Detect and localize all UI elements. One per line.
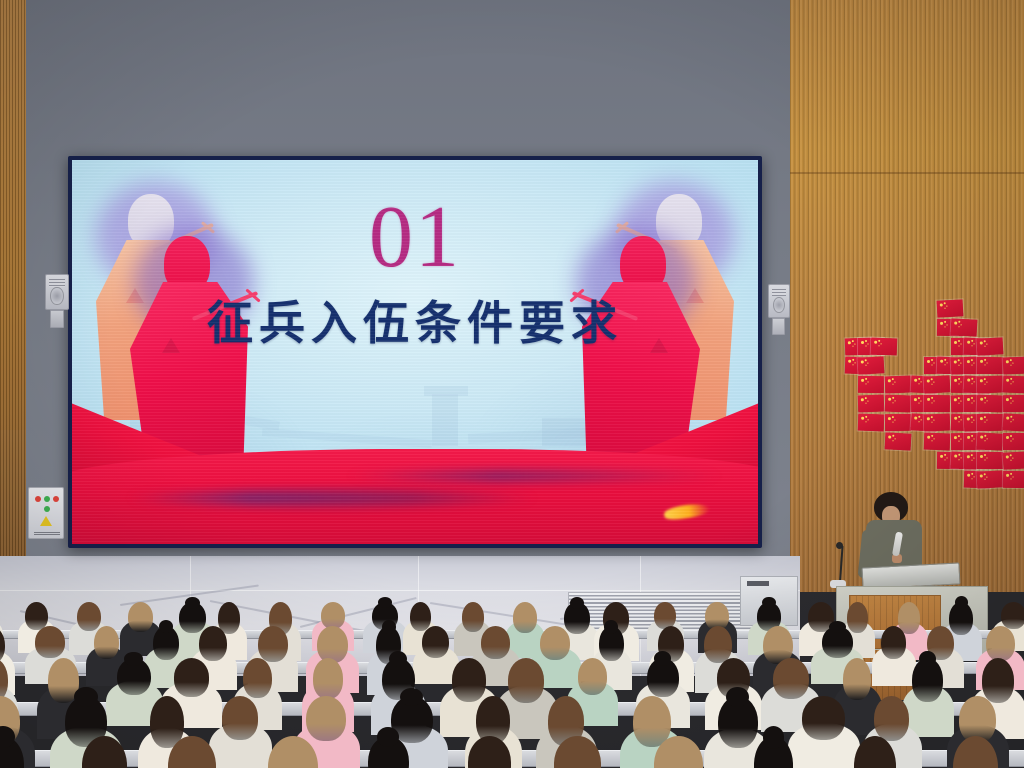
red-ribbon-graphic: [72, 394, 758, 544]
flag-tile: [884, 432, 911, 450]
flag-tile: [924, 375, 951, 393]
audience-head: [578, 658, 608, 695]
hair-bun: [74, 687, 97, 707]
audience-head: [82, 736, 127, 768]
slide-title: 征兵入伍条件要求: [72, 300, 758, 346]
ribbon-shadow-2: [346, 470, 723, 482]
flag-tile: [884, 376, 911, 394]
flag-tile: [1003, 357, 1024, 375]
audience-head: [174, 658, 210, 697]
audience-member: [654, 736, 703, 768]
flag-tile: [858, 414, 885, 432]
flag-tile: [950, 318, 977, 336]
flag-tile: [884, 395, 911, 413]
flag-tile: [1003, 376, 1024, 394]
audience-member: [802, 696, 845, 768]
audience-head: [481, 626, 510, 659]
hair-bun: [400, 688, 423, 706]
hair-bun: [762, 597, 775, 608]
audience-member: [94, 626, 119, 692]
audience-head: [268, 736, 318, 768]
audience-head: [843, 658, 872, 700]
flag-tile: [977, 376, 1004, 394]
hair-bun: [919, 651, 936, 668]
audience-head: [773, 658, 809, 699]
flag-tile: [924, 414, 951, 432]
audience-member: [881, 626, 906, 692]
audience-head: [540, 626, 570, 660]
audience-head: [258, 626, 288, 662]
hair-bun: [378, 597, 392, 608]
audience-head: [468, 736, 512, 768]
flag-tile: [977, 414, 1003, 431]
audience-member: [82, 736, 127, 768]
hair-bun: [570, 597, 584, 609]
audience-member: [912, 658, 943, 745]
flag-tile: [858, 376, 884, 393]
flag-tile: [1003, 451, 1024, 469]
warning-triangle-icon: [40, 516, 52, 526]
wall-speaker-left-base: [50, 310, 64, 328]
audience-head: [313, 658, 344, 699]
audience-head: [128, 602, 153, 632]
audience-head: [243, 658, 272, 698]
audience-member: [953, 736, 998, 768]
flag-tile: [924, 433, 951, 451]
audience-member: [268, 736, 318, 768]
audience-head: [199, 626, 227, 661]
audience-member: [754, 736, 794, 768]
flag-tile: [977, 432, 1004, 450]
flag-tile: [1003, 471, 1024, 488]
wood-slat-panel-left-lower: [0, 430, 26, 560]
audience-head: [953, 736, 998, 768]
wall-speaker-right: [768, 284, 790, 318]
flag-tile: [977, 470, 1004, 488]
audience-member: [368, 736, 409, 768]
hair-bun: [185, 597, 200, 609]
audience-member: [222, 696, 259, 768]
hair-bun: [829, 621, 846, 633]
led-presentation-screen[interactable]: 01 征兵入伍条件要求: [68, 156, 762, 548]
audience-head: [554, 736, 600, 768]
audience-member: [540, 626, 570, 694]
audience-member: [0, 736, 24, 768]
hair-bun: [124, 652, 142, 666]
flag-tile: [977, 452, 1003, 469]
hair-bun: [955, 596, 968, 609]
audience-head: [874, 696, 909, 741]
flag-tile: [1003, 395, 1024, 412]
audience-head: [306, 696, 345, 741]
audience-head: [881, 626, 906, 659]
audience-head: [802, 696, 845, 740]
wall-speaker-left: [45, 274, 69, 310]
audience-head: [94, 626, 119, 659]
seated-students: [0, 600, 1024, 768]
slide-section-number: 01: [72, 194, 758, 282]
flag-tile: [858, 395, 885, 413]
flag-tile: [1003, 433, 1024, 450]
audience-head: [35, 626, 65, 658]
audience-head: [508, 658, 544, 703]
audience-member: [117, 658, 151, 733]
gooseneck-mic-head: [836, 542, 843, 549]
audience-head: [422, 626, 449, 658]
flag-tile: [858, 356, 885, 374]
flag-tile: [977, 357, 1003, 374]
audience-head: [854, 736, 896, 768]
hair-bun: [726, 687, 748, 707]
flag-tile: [924, 395, 950, 412]
audience-member: [554, 736, 600, 768]
flag-tile: [977, 337, 1004, 355]
audience-head: [513, 602, 537, 633]
china-flag-wall-mosaic: [845, 300, 1020, 495]
audience-member: [718, 696, 758, 768]
flag-tile: [871, 338, 898, 356]
audience-member: [854, 736, 896, 768]
ribbon-shadow-1: [127, 490, 539, 506]
flag-tile: [884, 414, 910, 431]
audience-head: [986, 626, 1015, 661]
audience-head: [168, 736, 216, 768]
flag-tile: [977, 395, 1004, 413]
hair-bun: [382, 620, 396, 635]
emergency-control-panel[interactable]: [28, 487, 64, 539]
flag-tile: [937, 299, 964, 317]
audience-member: [168, 736, 216, 768]
wall-speaker-right-base: [772, 318, 785, 335]
lecture-hall-photo: 01 征兵入伍条件要求: [0, 0, 1024, 768]
slide-content: 01 征兵入伍条件要求: [72, 160, 758, 544]
audience-head: [654, 736, 703, 768]
audience-member: [422, 626, 449, 690]
hair-bun: [604, 620, 618, 634]
audience-head: [222, 696, 259, 740]
flag-tile: [1003, 413, 1024, 431]
audience-member: [468, 736, 512, 768]
hair-bun: [763, 726, 785, 748]
